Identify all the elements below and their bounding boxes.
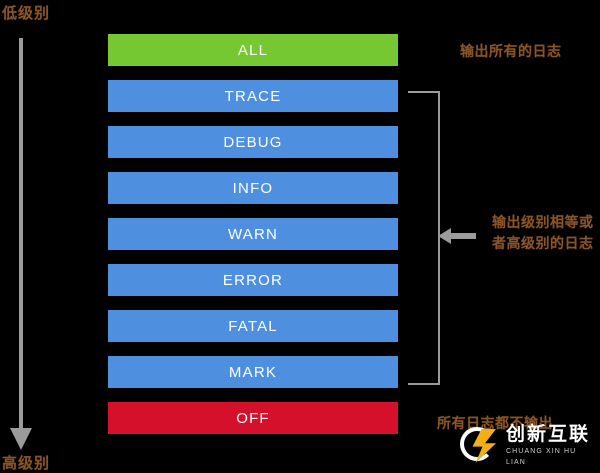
- level-bar-label: MARK: [229, 364, 277, 381]
- level-bar-label: ALL: [238, 42, 268, 59]
- level-bar-label: INFO: [233, 180, 274, 197]
- log-level-diagram: 低级别 高级别 ALLTRACEDEBUGINFOWARNERRORFATALM…: [0, 0, 600, 473]
- axis-arrow-head-icon: [10, 428, 32, 450]
- level-bar-all: ALL: [108, 34, 398, 66]
- axis-high-level-label: 高级别: [2, 452, 50, 473]
- level-bar-error: ERROR: [108, 264, 398, 296]
- annotation-level-range-line1: 输出级别相等或: [492, 212, 594, 233]
- level-bar-label: OFF: [236, 410, 270, 427]
- level-bar-label: FATAL: [228, 318, 278, 335]
- level-range-bracket: [408, 91, 440, 385]
- annotation-level-range-line2: 者高级别的日志: [492, 233, 594, 254]
- watermark-name-cn: 创新互联: [506, 424, 598, 446]
- watermark-name-en: CHUANG XIN HU LIAN: [506, 446, 598, 468]
- level-bar-off: OFF: [108, 402, 398, 434]
- axis-arrow-shaft: [19, 38, 23, 430]
- level-bar-debug: DEBUG: [108, 126, 398, 158]
- level-bar-mark: MARK: [108, 356, 398, 388]
- level-bar-label: DEBUG: [223, 134, 282, 151]
- level-bar-warn: WARN: [108, 218, 398, 250]
- level-bar-trace: TRACE: [108, 80, 398, 112]
- annotation-level-range: 输出级别相等或 者高级别的日志: [492, 212, 594, 254]
- annotation-all-levels: 输出所有的日志: [460, 41, 562, 62]
- level-bar-label: WARN: [228, 226, 278, 243]
- level-bar-fatal: FATAL: [108, 310, 398, 342]
- watermark: 创新互联 CHUANG XIN HU LIAN: [458, 423, 598, 469]
- axis-low-level-label: 低级别: [2, 2, 50, 23]
- watermark-cx-logo-icon: [458, 425, 500, 467]
- level-bar-list: ALLTRACEDEBUGINFOWARNERRORFATALMARKOFF: [108, 34, 398, 434]
- level-bar-label: ERROR: [223, 272, 283, 289]
- level-bar-info: INFO: [108, 172, 398, 204]
- level-bar-label: TRACE: [225, 88, 282, 105]
